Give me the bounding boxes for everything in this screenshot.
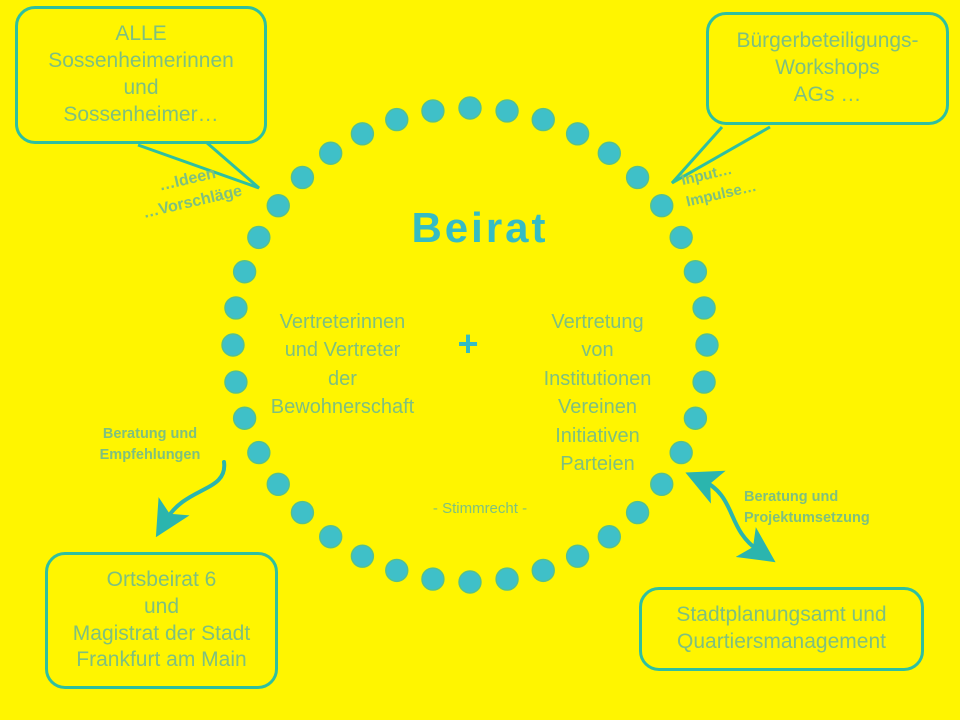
ring-dot [320, 526, 342, 548]
ring-dot [684, 407, 706, 429]
ring-dot [320, 142, 342, 164]
ring-dot [627, 166, 649, 188]
ring-dot [234, 407, 256, 429]
ring-dot [291, 166, 313, 188]
ring-dot [684, 261, 706, 283]
ring-dot [459, 571, 481, 593]
label-beratung-empfehlungen: Beratung und Empfehlungen [70, 424, 230, 466]
ring-dot [225, 297, 247, 319]
callout-citizens[interactable]: ALLE Sossenheimerinnen und Sossenheimer… [15, 6, 267, 144]
ring-dot [459, 97, 481, 119]
ring-dot [693, 371, 715, 393]
box-ortsbeirat-magistrat[interactable]: Ortsbeirat 6 und Magistrat der Stadt Fra… [45, 552, 278, 689]
ring-dot [567, 545, 589, 567]
ring-dot [386, 109, 408, 131]
ring-dot [351, 545, 373, 567]
center-title-beirat: Beirat [0, 204, 960, 252]
center-footnote-stimmrecht: - Stimmrecht - [0, 500, 960, 517]
box-stadtplanungsamt-quartiersmanagement[interactable]: Stadtplanungsamt und Quartiersmanagement [639, 587, 924, 671]
ring-dot [696, 334, 718, 356]
diagram-canvas: ALLE Sossenheimerinnen und Sossenheimer…… [0, 0, 960, 720]
box-stadtplanung-text: Stadtplanungsamt und Quartiersmanagement [676, 602, 886, 656]
ring-dot [598, 142, 620, 164]
center-column-institutions: Vertretung von Institutionen Vereinen In… [510, 308, 685, 478]
plus-icon: + [448, 326, 488, 362]
box-ortsbeirat-text: Ortsbeirat 6 und Magistrat der Stadt Fra… [73, 567, 250, 675]
callout-citizens-text: ALLE Sossenheimerinnen und Sossenheimer… [48, 21, 234, 129]
callout-workshops-text: Bürgerbeteiligungs- Workshops AGs … [736, 28, 918, 109]
ring-dot [567, 123, 589, 145]
ring-dot [496, 568, 518, 590]
ring-dot [386, 559, 408, 581]
ring-dot [225, 371, 247, 393]
label-input-impulse: Input… Impulse… [679, 141, 815, 213]
ring-dot [422, 568, 444, 590]
ring-dot [598, 526, 620, 548]
ring-dot [422, 100, 444, 122]
ring-dot [496, 100, 518, 122]
callout-workshops[interactable]: Bürgerbeteiligungs- Workshops AGs … [706, 12, 949, 125]
ring-dot [532, 109, 554, 131]
center-column-residents: Vertreterinnen und Vertreter der Bewohne… [255, 308, 430, 422]
ring-dot [234, 261, 256, 283]
ring-dot [693, 297, 715, 319]
ring-dot [532, 559, 554, 581]
ring-dot [222, 334, 244, 356]
ring-dot [351, 123, 373, 145]
